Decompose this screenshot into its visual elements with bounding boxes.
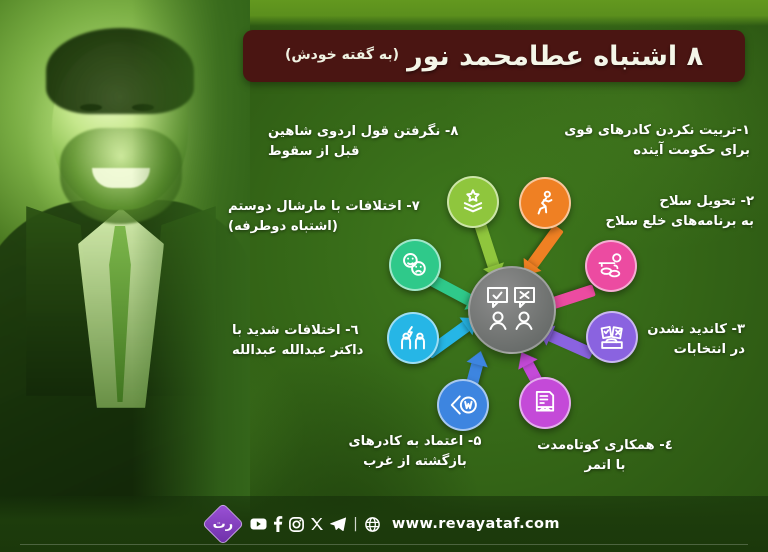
label-item-8-line1: ۸- نگرفتن قول اردوی شاهین bbox=[268, 122, 472, 142]
conflict-two-people-icon bbox=[398, 324, 428, 352]
facebook-icon[interactable] bbox=[273, 516, 283, 532]
instagram-icon[interactable] bbox=[289, 517, 304, 532]
label-item-1-line2: برای حکومت آینده bbox=[520, 141, 750, 161]
label-item-6-line1: ٦- اختلافات شدید با bbox=[232, 321, 380, 341]
label-item-1-line1: ۱-تربیت نکردن کادرهای قوی bbox=[520, 121, 750, 141]
telegram-icon[interactable] bbox=[330, 517, 346, 531]
portrait-eye-left bbox=[80, 104, 102, 111]
footer-divider: | bbox=[352, 516, 359, 532]
ballot-box-icon bbox=[597, 323, 627, 351]
page-title: ۸ اشتباه عطامحمد نور bbox=[407, 41, 703, 72]
youtube-icon[interactable] bbox=[250, 517, 267, 531]
weapons-handover-icon bbox=[596, 252, 626, 280]
label-item-1: ۱-تربیت نکردن کادرهای قوی برای حکومت آین… bbox=[520, 121, 750, 161]
label-item-5-line2: بازگشته از غرب bbox=[322, 452, 508, 472]
west-compass-icon bbox=[448, 392, 478, 418]
label-item-7-line1: ۷- اختلافات با مارشال دوستم bbox=[228, 197, 434, 217]
label-item-7-line2: (اشتباه دوطرفه) bbox=[228, 217, 434, 237]
label-item-5: ۵- اعتماد به کادرهای بازگشته از غرب bbox=[322, 432, 508, 472]
two-faces-icon bbox=[400, 251, 430, 279]
brand-logo-text: رت bbox=[213, 517, 234, 532]
globe-icon[interactable] bbox=[365, 517, 380, 532]
label-item-3-line2: در انتخابات bbox=[625, 340, 745, 360]
label-item-5-line1: ۵- اعتماد به کادرهای bbox=[322, 432, 508, 452]
x-twitter-icon[interactable] bbox=[310, 517, 324, 531]
label-item-8-line2: قبل از سقوط bbox=[268, 142, 472, 162]
node-item-2[interactable] bbox=[585, 240, 637, 292]
footer-rule bbox=[20, 544, 748, 545]
label-item-4-line2: با اتمر bbox=[520, 456, 690, 476]
brand-logo[interactable]: رت bbox=[202, 503, 244, 545]
label-item-2-line1: ۲- تحویل سلاح bbox=[538, 192, 754, 212]
label-item-4-line1: ٤- همکاری کوتاه‌مدت bbox=[520, 436, 690, 456]
label-item-2: ۲- تحویل سلاح به برنامه‌های خلع سلاح bbox=[538, 192, 754, 232]
node-item-6[interactable] bbox=[387, 312, 439, 364]
agreement-document-icon bbox=[531, 389, 559, 417]
hub-center-node bbox=[468, 266, 556, 354]
debate-speech-bubbles-icon bbox=[485, 284, 539, 336]
portrait-fade-overlay bbox=[132, 0, 250, 552]
label-item-7: ۷- اختلافات با مارشال دوستم (اشتباه دوطر… bbox=[228, 197, 434, 237]
social-links: | bbox=[250, 516, 380, 532]
label-item-6: ٦- اختلافات شدید با داکتر عبدالله عبدالل… bbox=[232, 321, 380, 361]
label-item-8: ۸- نگرفتن قول اردوی شاهین قبل از سقوط bbox=[268, 122, 472, 162]
node-item-8[interactable] bbox=[447, 176, 499, 228]
infographic-poster: ۸ اشتباه عطامحمد نور (به گفته خودش) bbox=[0, 0, 768, 552]
label-item-2-line2: به برنامه‌های خلع سلاح bbox=[538, 212, 754, 232]
label-item-3: ۳- کاندید نشدن در انتخابات bbox=[625, 320, 745, 360]
node-item-4[interactable] bbox=[519, 377, 571, 429]
label-item-6-line2: داکتر عبدالله عبدالله bbox=[232, 341, 380, 361]
website-url: www.revayataf.com bbox=[392, 516, 560, 532]
portrait-photo bbox=[0, 0, 250, 552]
node-item-5[interactable] bbox=[437, 379, 489, 431]
label-item-3-line1: ۳- کاندید نشدن bbox=[625, 320, 745, 340]
node-item-7[interactable] bbox=[389, 239, 441, 291]
poster-title-bar: ۸ اشتباه عطامحمد نور (به گفته خودش) bbox=[243, 30, 745, 82]
label-item-4: ٤- همکاری کوتاه‌مدت با اتمر bbox=[520, 436, 690, 476]
military-rank-star-icon bbox=[459, 188, 487, 216]
page-subtitle: (به گفته خودش) bbox=[285, 47, 399, 66]
